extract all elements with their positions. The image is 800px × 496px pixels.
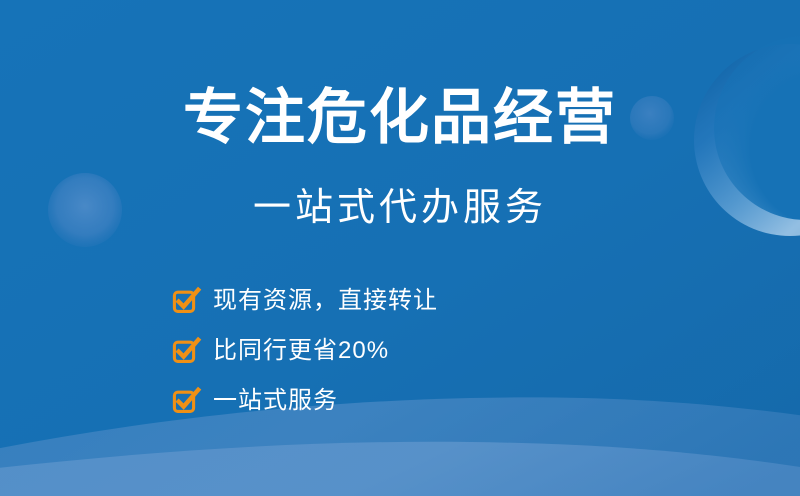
feature-item: 现有资源，直接转让 [172, 276, 438, 326]
feature-list: 现有资源，直接转让 比同行更省20% 一站式 [172, 276, 438, 426]
checkbox-checked-icon [172, 338, 200, 364]
banner-title: 专注危化品经营 [0, 84, 800, 152]
feature-item: 比同行更省20% [172, 326, 438, 376]
checkbox-checked-icon [172, 288, 200, 314]
checkbox-checked-icon [172, 388, 200, 414]
feature-label: 现有资源，直接转让 [213, 287, 438, 315]
feature-label: 一站式服务 [213, 387, 338, 415]
banner-content: 专注危化品经营 一站式代办服务 现有资源，直接转让 [0, 0, 800, 496]
banner-subtitle: 一站式代办服务 [0, 184, 800, 232]
feature-label: 比同行更省20% [213, 337, 389, 365]
feature-item: 一站式服务 [172, 376, 438, 426]
promo-banner: 专注危化品经营 一站式代办服务 现有资源，直接转让 [0, 0, 800, 496]
